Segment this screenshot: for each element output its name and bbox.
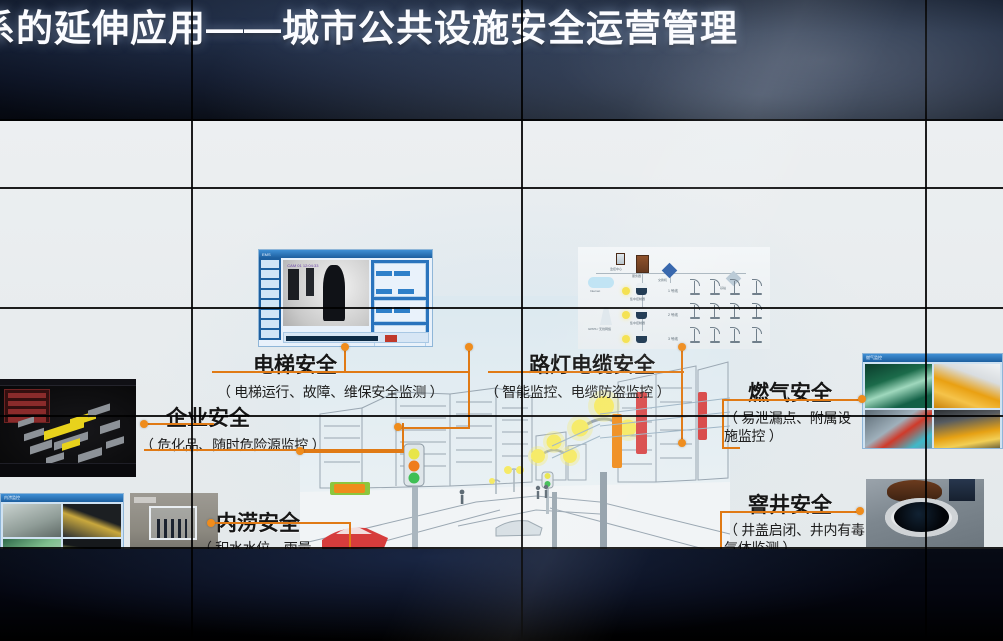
- panel-elevator-monitor[interactable]: CAM 01 12:04:33 EMS: [258, 249, 433, 347]
- callout-elevator[interactable]: 电梯安全 （ 电梯运行、故障、维保安全监测 ）: [253, 349, 443, 402]
- connector-dot-streetlight: [678, 343, 686, 351]
- camera-tile[interactable]: [934, 364, 1001, 408]
- wall-upper-band: 系的延伸应用——城市公共设施安全运营管理: [0, 0, 1003, 121]
- panel-streetlight-topology[interactable]: Internet 服务器 交换机 监控中心 基站 集中控制器 集中控制器: [578, 247, 770, 349]
- camera-tile[interactable]: [865, 364, 932, 408]
- connector-dot-elevator: [341, 343, 349, 351]
- elevator-status-bar: [283, 332, 429, 343]
- elevator-cctv-view: CAM 01 12:04:33: [283, 260, 369, 326]
- panel-enterprise-3d-model[interactable]: [0, 379, 136, 477]
- callout-elevator-sub: （ 电梯运行、故障、维保安全监测 ）: [217, 382, 443, 402]
- callout-waterlogging-sub: （ 积水水位、雨量监控 ）: [198, 540, 318, 549]
- connector-manhole-v: [720, 511, 722, 549]
- gas-grid-titlebar: 燃气监控: [863, 354, 1002, 362]
- video-wall-room: 系的延伸应用——城市公共设施安全运营管理: [0, 0, 1003, 641]
- connector-gas-v: [722, 399, 724, 449]
- connector-dot-elevator-b: [465, 343, 473, 351]
- connector-dot-manhole: [856, 507, 864, 515]
- connector-dot-enterprise: [140, 420, 148, 428]
- connector-dot-enterprise-city: [296, 447, 304, 455]
- callout-waterlogging[interactable]: 内涝安全 （ 积水水位、雨量监控 ）: [216, 507, 336, 549]
- callout-elevator-title: 电梯安全: [253, 349, 443, 379]
- panel-waterlogging-camera-grid[interactable]: 内涝监控: [0, 493, 124, 549]
- connector-gas-h: [722, 447, 740, 449]
- connector-streetlight-drop: [681, 371, 683, 443]
- callout-gas-sub: （ 易泄漏点、附属设施监控 ）: [724, 410, 864, 445]
- callout-manhole-title: 窨井安全: [748, 489, 888, 519]
- connector-dot-waterlogging: [207, 519, 215, 527]
- callout-manhole-sub: （ 井盖启闭、井内有毒气体监测 ）: [724, 522, 870, 549]
- page-title: 系的延伸应用——城市公共设施安全运营管理: [0, 7, 1003, 51]
- connector-dot-gas: [858, 395, 866, 403]
- connector-dot-elevator-city: [394, 423, 402, 431]
- connector-elevator-drop: [468, 371, 470, 429]
- elevator-titlebar: EMS: [259, 250, 432, 258]
- camera-tile[interactable]: [63, 504, 121, 537]
- callout-gas[interactable]: 燃气安全 （ 易泄漏点、附属设施监控 ）: [748, 377, 872, 445]
- main-slide-screen: CAM 01 12:04:33 EMS: [0, 121, 1003, 549]
- connector-elevator-into-city: [398, 427, 470, 429]
- callout-enterprise-title: 企业安全: [166, 402, 325, 432]
- underline-waterlogging: [211, 522, 351, 524]
- camera-tile[interactable]: [934, 410, 1001, 449]
- camera-tile[interactable]: [63, 539, 121, 549]
- connector-enterprise-v: [402, 423, 404, 451]
- callout-streetlight[interactable]: 路灯电缆安全 （ 智能监控、电缆防盗监控 ）: [529, 349, 670, 402]
- wall-lower-band: [0, 549, 1003, 641]
- panel-gas-camera-grid[interactable]: 燃气监控: [862, 353, 1003, 449]
- connector-dot-streetlight-city: [678, 439, 686, 447]
- connector-enterprise: [144, 423, 214, 425]
- waterlogging-grid-titlebar: 内涝监控: [1, 494, 123, 502]
- underline-manhole: [720, 511, 860, 513]
- callout-gas-title: 燃气安全: [748, 377, 872, 407]
- callout-streetlight-title: 路灯电缆安全: [529, 349, 670, 379]
- callout-streetlight-sub: （ 智能监控、电缆防盗监控 ）: [485, 382, 670, 402]
- underline-streetlight: [488, 371, 684, 373]
- connector-enterprise-h: [300, 451, 404, 453]
- camera-tile[interactable]: [865, 410, 932, 449]
- camera-tile[interactable]: [3, 539, 61, 549]
- camera-tile[interactable]: [3, 504, 61, 537]
- elevator-data-pane: [371, 260, 429, 340]
- callout-manhole[interactable]: 窨井安全 （ 井盖启闭、井内有毒气体监测 ）: [748, 489, 888, 549]
- underline-gas: [722, 399, 862, 401]
- connector-waterlogging-v: [349, 522, 351, 549]
- underline-elevator: [212, 371, 470, 373]
- elevator-left-nav[interactable]: [259, 258, 281, 340]
